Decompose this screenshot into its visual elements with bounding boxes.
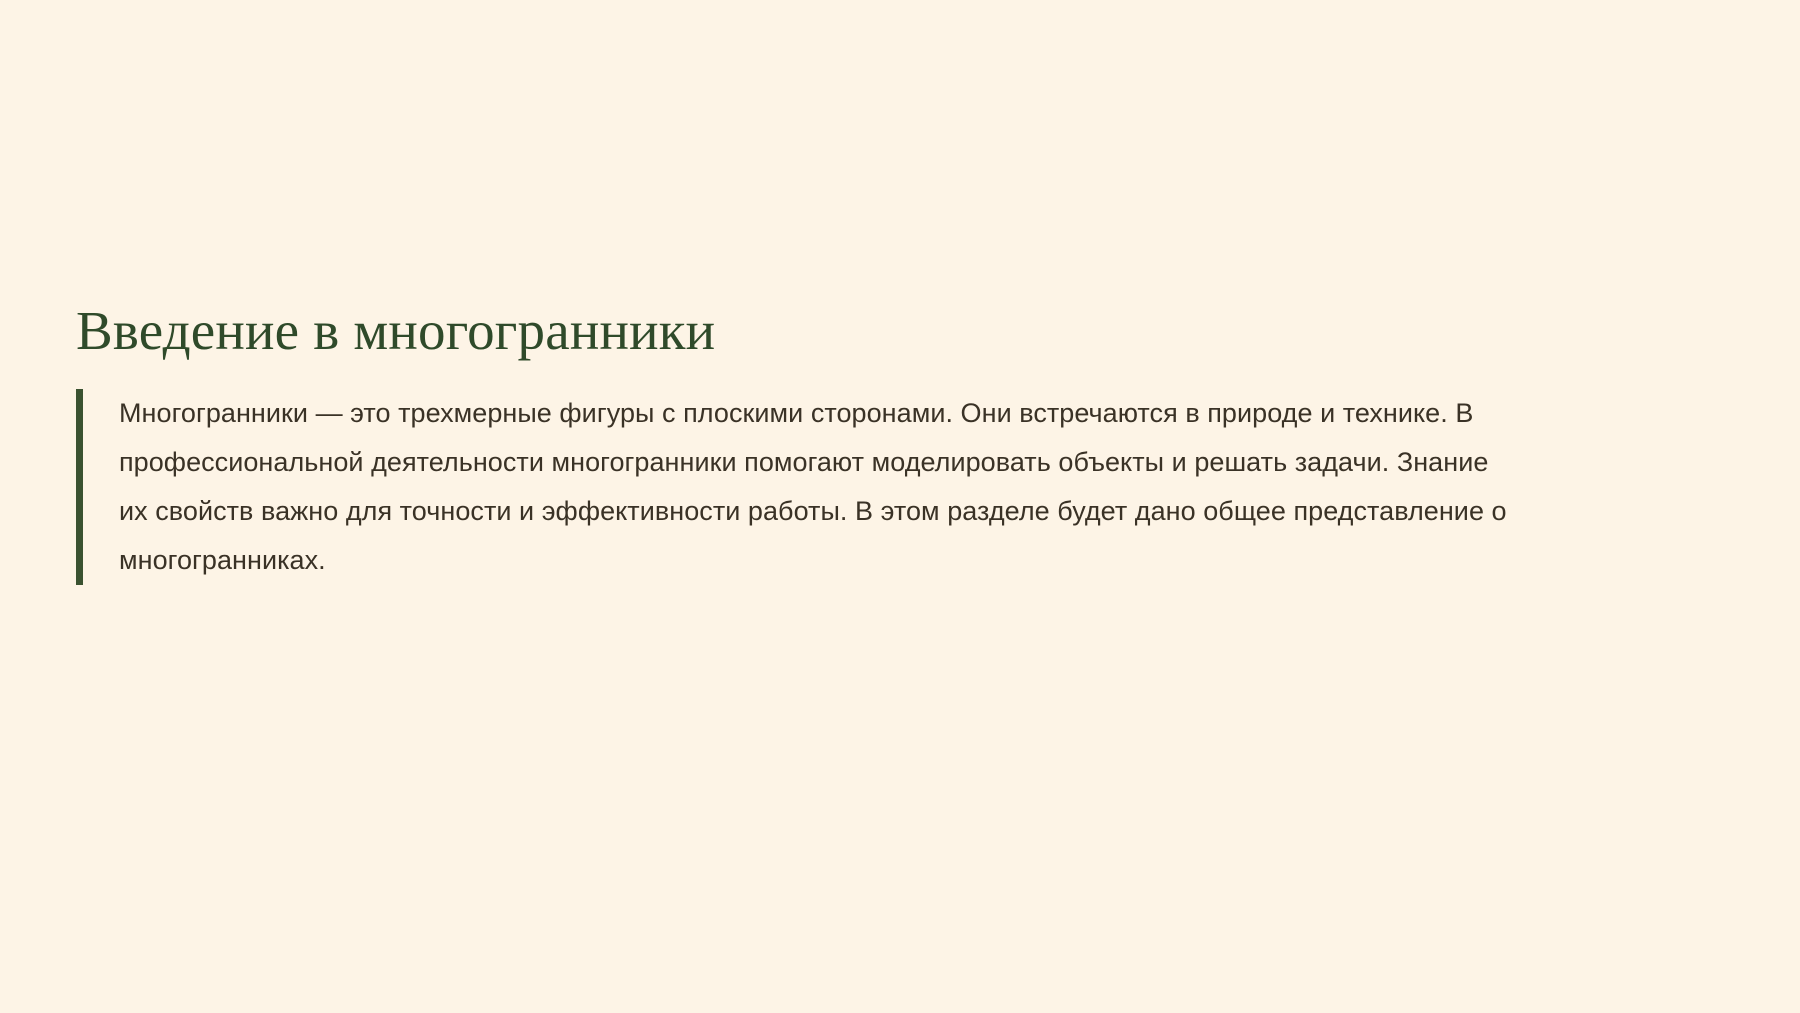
lead-paragraph: Многогранники — это трехмерные фигуры с …	[119, 389, 1524, 585]
slide-canvas: Введение в многогранники Многогранники —…	[0, 0, 1800, 1013]
slide-content: Введение в многогранники Многогранники —…	[76, 300, 1726, 585]
lead-callout-block: Многогранники — это трехмерные фигуры с …	[76, 389, 1726, 585]
page-title: Введение в многогранники	[76, 300, 1726, 362]
